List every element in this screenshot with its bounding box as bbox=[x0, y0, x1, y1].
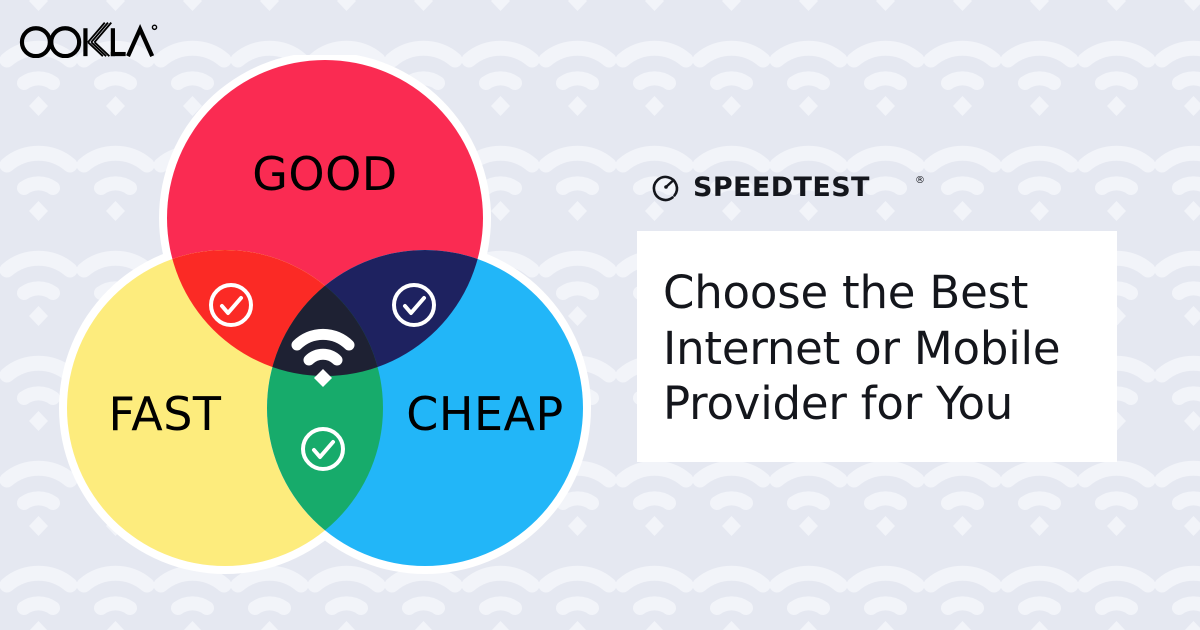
ookla-letter-o2 bbox=[51, 28, 79, 56]
ookla-logo bbox=[18, 18, 158, 58]
ookla-letter-o1 bbox=[22, 28, 50, 56]
speedtest-wordmark: SPEEDTEST bbox=[693, 172, 870, 203]
headline-line-2: Internet or Mobile bbox=[663, 322, 1060, 375]
headline-card: Choose the Best Internet or Mobile Provi… bbox=[637, 231, 1117, 462]
right-content-column: SPEEDTEST ® Choose the Best Internet or … bbox=[637, 170, 1127, 462]
ookla-registered-mark bbox=[152, 25, 156, 29]
speedtest-registered-mark: ® bbox=[915, 175, 925, 186]
ookla-letter-a bbox=[128, 29, 152, 56]
speedtest-logo: SPEEDTEST ® bbox=[649, 170, 929, 204]
ookla-letter-l bbox=[111, 28, 126, 56]
speedometer-icon bbox=[654, 177, 677, 200]
headline-line-1: Choose the Best bbox=[663, 266, 1028, 319]
venn-label-fast: FAST bbox=[108, 387, 221, 441]
venn-diagram: GOOD FAST CHEAP bbox=[40, 55, 610, 585]
venn-label-cheap: CHEAP bbox=[406, 387, 563, 441]
headline-line-3: Provider for You bbox=[663, 377, 1013, 430]
page-title: Choose the Best Internet or Mobile Provi… bbox=[663, 265, 1091, 432]
ookla-letter-k bbox=[83, 23, 111, 56]
venn-label-good: GOOD bbox=[252, 147, 397, 201]
